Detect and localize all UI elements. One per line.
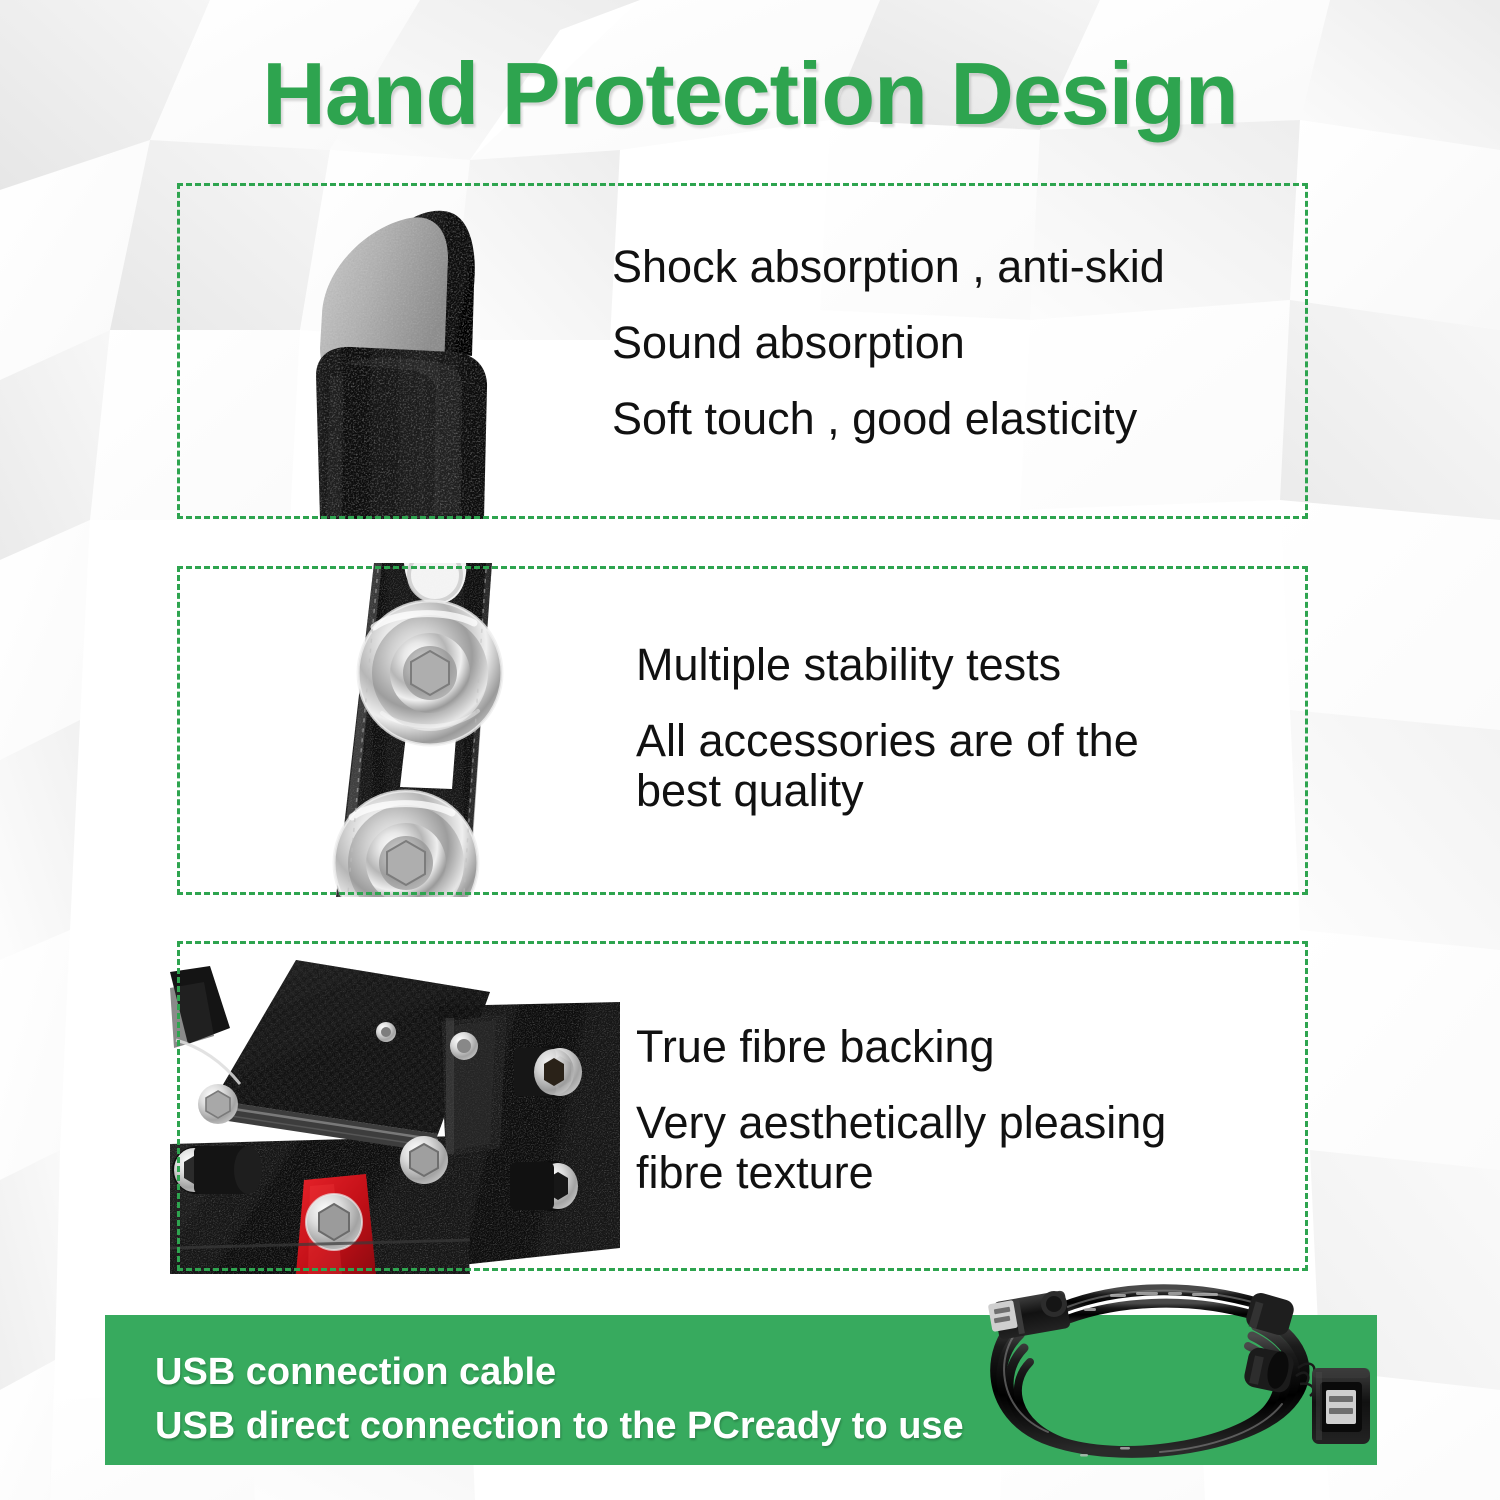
feature-2-text: Multiple stability tests All accessories… xyxy=(636,640,1276,816)
feature-1-line-1: Shock absorption , anti-skid xyxy=(612,242,1292,292)
feature-3-line-1: True fibre backing xyxy=(636,1022,1286,1072)
feature-3-line-3: fibre texture xyxy=(636,1148,1286,1198)
usb-footer-line-2: USB direct connection to the PCready to … xyxy=(155,1399,1055,1453)
usb-footer-text: USB connection cable USB direct connecti… xyxy=(155,1345,1055,1453)
feature-1-line-3: Soft touch , good elasticity xyxy=(612,394,1292,444)
feature-3-text: True fibre backing Very aesthetically pl… xyxy=(636,1022,1286,1198)
usb-footer-line-1: USB connection cable xyxy=(155,1345,1055,1399)
feature-3-line-2: Very aesthetically pleasing xyxy=(636,1098,1286,1148)
feature-2-line-3: best quality xyxy=(636,766,1276,816)
feature-2-line-2: All accessories are of the xyxy=(636,716,1276,766)
usb-cable-photo xyxy=(960,1272,1400,1472)
feature-1-text: Shock absorption , anti-skid Sound absor… xyxy=(612,242,1292,444)
feature-1-line-2: Sound absorption xyxy=(612,318,1292,368)
page-title: Hand Protection Design xyxy=(0,48,1500,140)
feature-2-line-1: Multiple stability tests xyxy=(636,640,1276,690)
